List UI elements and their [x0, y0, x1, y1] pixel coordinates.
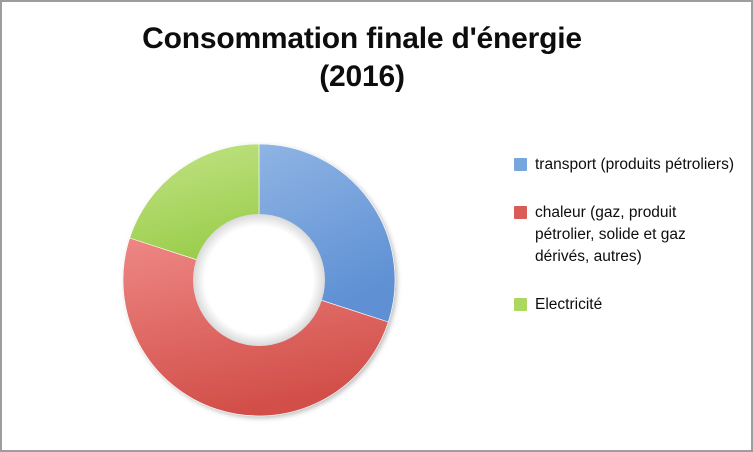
legend-item-electricite[interactable]: Electricité — [514, 294, 739, 316]
legend-label-chaleur: chaleur (gaz, produit pétrolier, solide … — [535, 202, 739, 268]
legend-item-transport[interactable]: transport (produits pétroliers) — [514, 154, 739, 176]
legend-swatch-red-icon — [514, 206, 527, 219]
legend-swatch-green-icon — [514, 298, 527, 311]
chart-title: Consommation finale d'énergie (2016) — [42, 20, 682, 96]
legend-swatch-blue-icon — [514, 158, 527, 171]
donut-chart-plot-area — [120, 141, 398, 419]
chart-legend: transport (produits pétroliers) chaleur … — [514, 154, 739, 342]
legend-label-electricite: Electricité — [535, 294, 602, 316]
donut-center-hole — [193, 214, 325, 346]
donut-chart-svg — [120, 141, 398, 419]
legend-item-chaleur[interactable]: chaleur (gaz, produit pétrolier, solide … — [514, 202, 739, 268]
legend-label-transport: transport (produits pétroliers) — [535, 154, 734, 176]
chart-canvas: Consommation finale d'énergie (2016) — [0, 0, 753, 452]
